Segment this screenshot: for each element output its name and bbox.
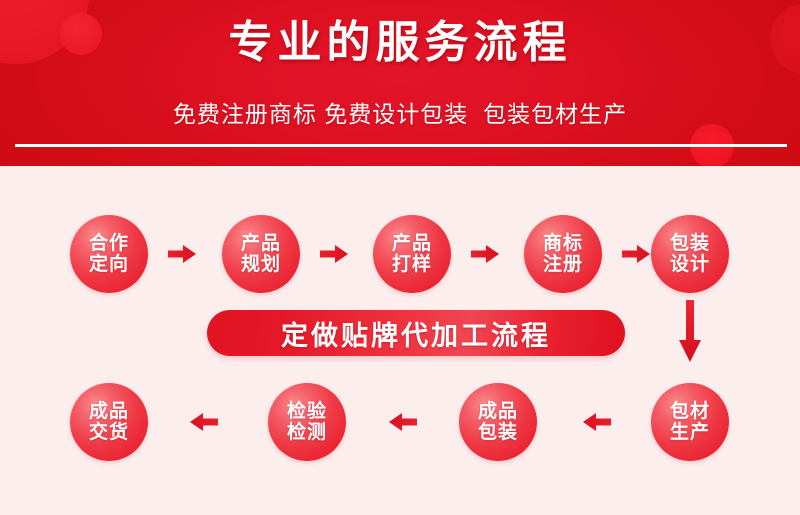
flow-node-line2: 检测 <box>287 422 327 443</box>
flow-node-line1: 产品 <box>241 233 281 254</box>
flow-node-line2: 生产 <box>670 422 710 443</box>
flow-node-line1: 合作 <box>89 233 129 254</box>
flow-node-finished-packaging[interactable]: 成品 包装 <box>459 383 537 461</box>
flow-node-line2: 打样 <box>392 254 432 275</box>
flow-node-line1: 包装 <box>670 233 710 254</box>
arrow-right-icon <box>622 245 650 263</box>
flow-node-inspection-testing[interactable]: 检验 检测 <box>268 383 346 461</box>
arrow-down-icon <box>679 300 701 362</box>
flow-node-cooperation-orientation[interactable]: 合作 定向 <box>70 215 148 293</box>
page-subtitle: 免费注册商标 免费设计包装 包装包材生产 <box>0 95 800 129</box>
flow-node-line1: 成品 <box>478 401 518 422</box>
flow-node-line1: 商标 <box>543 233 583 254</box>
flow-node-finished-delivery[interactable]: 成品 交货 <box>70 383 148 461</box>
flow-node-line1: 成品 <box>89 401 129 422</box>
flow-node-packaging-material-production[interactable]: 包材 生产 <box>651 383 729 461</box>
flow-node-product-sampling[interactable]: 产品 打样 <box>373 215 451 293</box>
center-banner-label: 定做贴牌代加工流程 <box>207 310 625 356</box>
page-title: 专业的服务流程 <box>0 18 800 69</box>
service-process-infographic: 专业的服务流程 免费注册商标 免费设计包装 包装包材生产 合作 定向 产品 规划… <box>0 0 800 515</box>
flow-node-line2: 规划 <box>241 254 281 275</box>
arrow-left-icon <box>389 413 417 431</box>
flow-node-line2: 注册 <box>543 254 583 275</box>
process-flow-area: 合作 定向 产品 规划 产品 打样 商标 注册 包装 设计 <box>0 166 800 515</box>
header-banner: 专业的服务流程 免费注册商标 免费设计包装 包装包材生产 <box>0 0 800 166</box>
arrow-right-icon <box>320 245 348 263</box>
flow-node-line2: 设计 <box>670 254 710 275</box>
flow-node-trademark-registration[interactable]: 商标 注册 <box>524 215 602 293</box>
flow-node-line1: 产品 <box>392 233 432 254</box>
arrow-left-icon <box>190 413 218 431</box>
flow-node-package-design[interactable]: 包装 设计 <box>651 215 729 293</box>
flow-node-line1: 包材 <box>670 401 710 422</box>
flow-node-line1: 检验 <box>287 401 327 422</box>
flow-node-line2: 包装 <box>478 422 518 443</box>
flow-node-line2: 交货 <box>89 422 129 443</box>
flow-node-line2: 定向 <box>89 254 129 275</box>
header-divider-line <box>15 144 787 147</box>
flow-node-product-planning[interactable]: 产品 规划 <box>222 215 300 293</box>
arrow-right-icon <box>168 245 196 263</box>
arrow-left-icon <box>583 413 611 431</box>
arrow-right-icon <box>471 245 499 263</box>
